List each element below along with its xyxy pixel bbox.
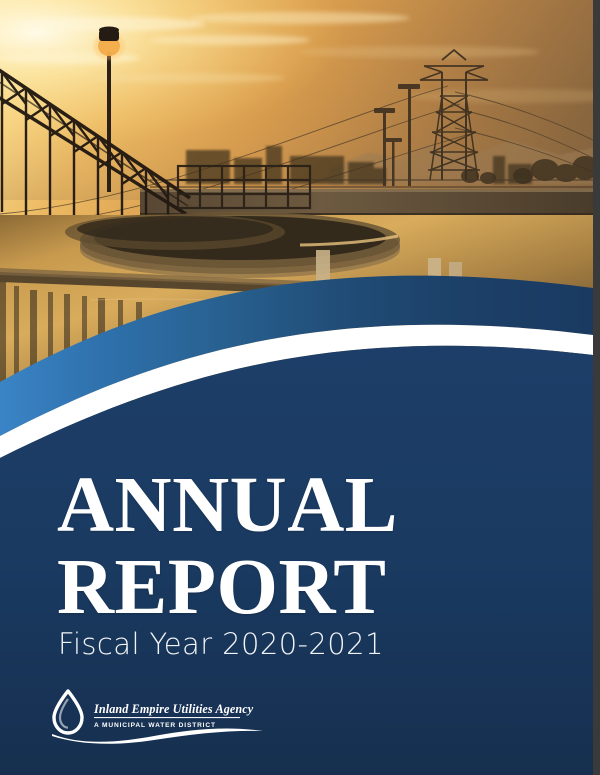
water-droplet-icon [54,691,82,733]
annual-report-cover: ANNUAL REPORT Fiscal Year 2020-2021 Inla… [0,0,600,775]
page-title: ANNUAL REPORT [57,468,527,625]
logo-tagline: A MUNICIPAL WATER DISTRICT [94,722,216,729]
logo-organization-name: Inland Empire Utilities Agency [93,702,254,716]
title-line-annual: ANNUAL [57,468,527,543]
agency-logo: Inland Empire Utilities Agency A MUNICIP… [50,688,265,746]
logo-swoosh-icon [52,729,263,744]
title-line-report: REPORT [57,550,527,625]
fiscal-year-subtitle: Fiscal Year 2020-2021 [58,627,384,661]
